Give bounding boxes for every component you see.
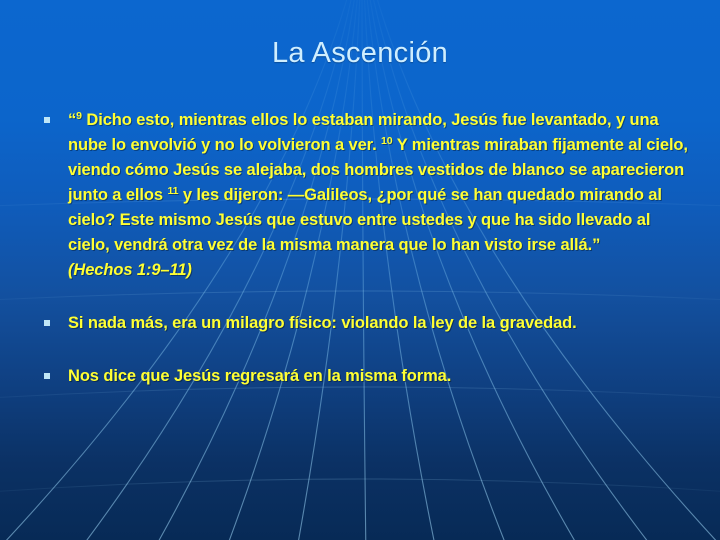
bullet-item-miracle[interactable]: Si nada más, era un milagro físico: viol…	[38, 311, 688, 336]
bullet-item-return[interactable]: Nos dice que Jesús regresará en la misma…	[38, 364, 688, 389]
bullet-marker	[38, 108, 68, 123]
presentation-slide: La Ascención “9 Dicho esto, mientras ell…	[0, 0, 720, 540]
slide-title: La Ascención	[0, 36, 720, 70]
bullet-text-return: Nos dice que Jesús regresará en la misma…	[68, 364, 688, 389]
square-bullet-icon	[44, 373, 50, 379]
square-bullet-icon	[44, 117, 50, 123]
bullet-text-scripture: “9 Dicho esto, mientras ellos lo estaban…	[68, 108, 688, 283]
bullet-text-miracle: Si nada más, era un milagro físico: viol…	[68, 311, 688, 336]
bullet-marker	[38, 364, 68, 379]
square-bullet-icon	[44, 320, 50, 326]
bullet-item-scripture[interactable]: “9 Dicho esto, mientras ellos lo estaban…	[38, 108, 688, 283]
slide-body: “9 Dicho esto, mientras ellos lo estaban…	[38, 108, 688, 407]
quote-open: “	[68, 111, 76, 129]
bullet-marker	[38, 311, 68, 326]
verse-number-10: 10	[381, 135, 392, 147]
verse-number-11: 11	[167, 185, 178, 197]
scripture-citation: (Hechos 1:9–11)	[68, 261, 192, 279]
